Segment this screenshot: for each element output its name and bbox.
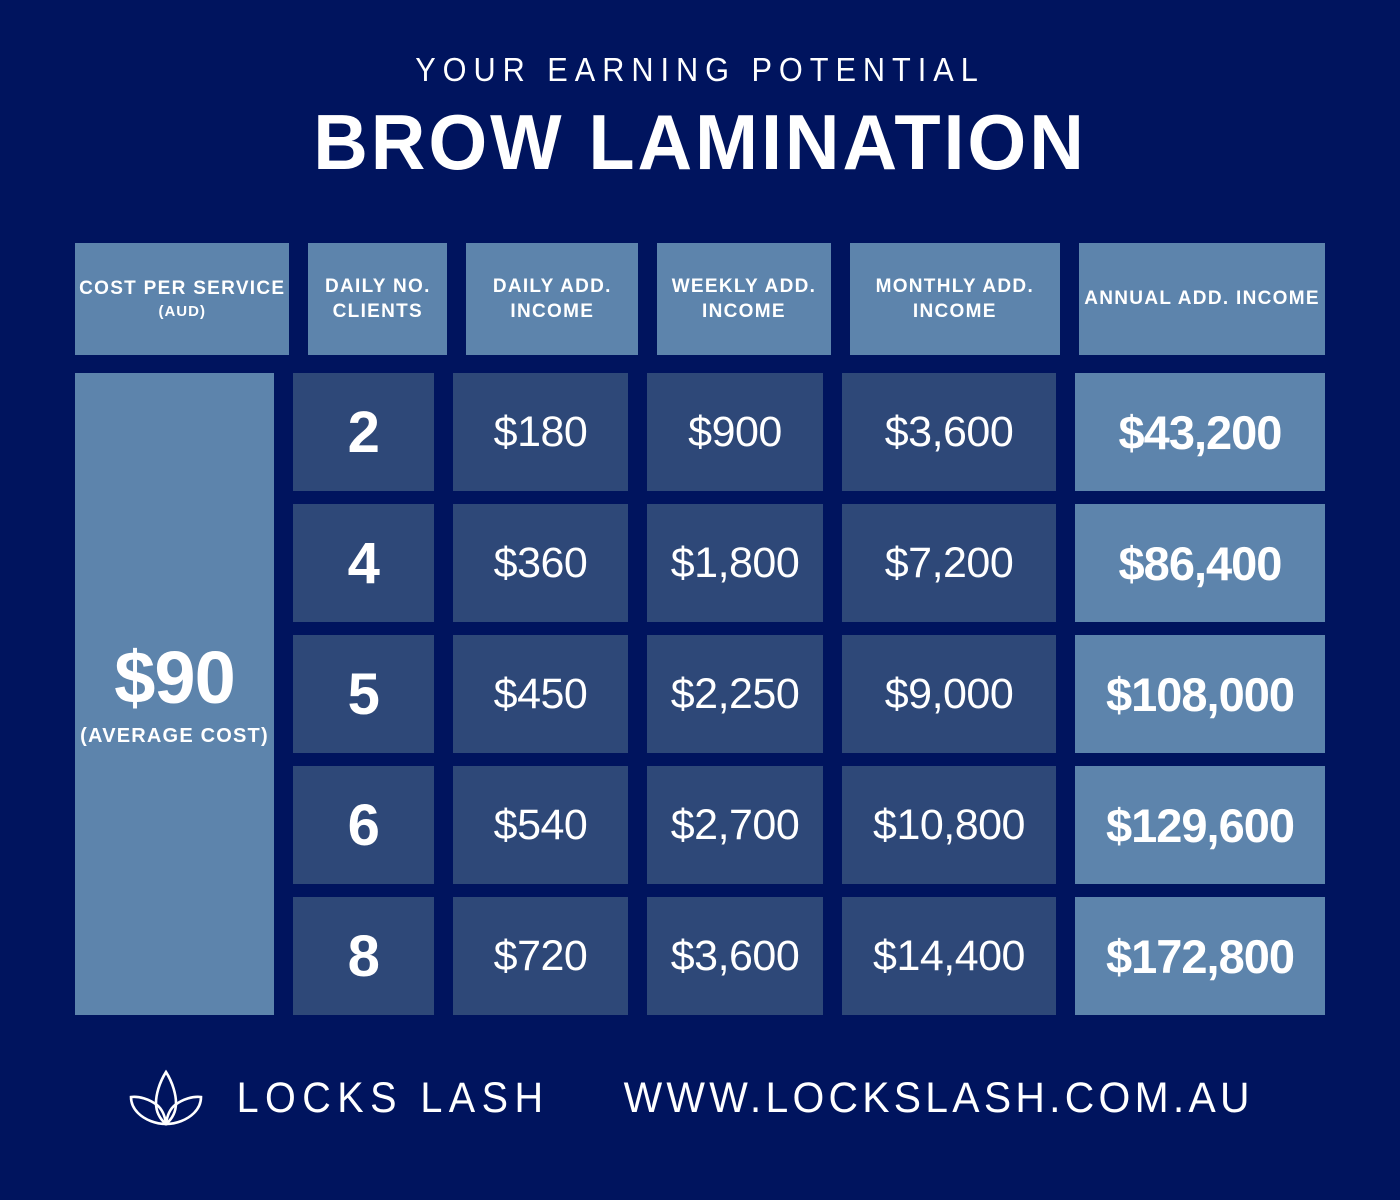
cell-annual-income: $108,000 (1075, 635, 1325, 753)
cost-per-service-note: (AVERAGE COST) (80, 725, 269, 748)
cell-daily-income: $180 (453, 373, 628, 491)
eyebrow-text: YOUR EARNING POTENTIAL (49, 52, 1351, 88)
brand-name: LOCKS LASH (237, 1074, 550, 1123)
cell-daily-income: $540 (453, 766, 628, 884)
cell-annual-income: $43,200 (1075, 373, 1325, 491)
cell-annual-income: $172,800 (1075, 897, 1325, 1015)
cell-daily-clients: 2 (293, 373, 434, 491)
column-header-daily-no-clients: DAILY NO. CLIENTS (308, 243, 447, 355)
column-header-sublabel: (AUD) (79, 302, 285, 322)
cell-daily-clients: 4 (293, 504, 434, 622)
cell-daily-clients: 8 (293, 897, 434, 1015)
column-header-cost-per-service: COST PER SERVICE (AUD) (75, 243, 289, 355)
table-body: $90 (AVERAGE COST) 2 $180 $900 $3,600 $4… (75, 373, 1325, 1015)
cell-annual-income: $129,600 (1075, 766, 1325, 884)
column-header-label: COST PER SERVICE (79, 278, 285, 299)
cell-weekly-income: $900 (647, 373, 823, 491)
cell-monthly-income: $3,600 (842, 373, 1056, 491)
cell-monthly-income: $9,000 (842, 635, 1056, 753)
cell-daily-clients: 5 (293, 635, 434, 753)
cell-daily-income: $720 (453, 897, 628, 1015)
footer: LOCKS LASH WWW.LOCKSLASH.COM.AU (0, 1068, 1400, 1128)
cost-per-service-cell: $90 (AVERAGE COST) (75, 373, 274, 1015)
infographic-page: YOUR EARNING POTENTIAL BROW LAMINATION C… (0, 0, 1400, 1200)
cell-annual-income: $86,400 (1075, 504, 1325, 622)
table-row: 6 $540 $2,700 $10,800 $129,600 (293, 766, 1325, 884)
cell-daily-income: $450 (453, 635, 628, 753)
column-header-monthly-add-income: MONTHLY ADD. INCOME (850, 243, 1061, 355)
cell-weekly-income: $2,700 (647, 766, 823, 884)
earnings-table: COST PER SERVICE (AUD) DAILY NO. CLIENTS… (75, 243, 1325, 1015)
cell-weekly-income: $1,800 (647, 504, 823, 622)
column-header-daily-add-income: DAILY ADD. INCOME (466, 243, 638, 355)
cell-daily-income: $360 (453, 504, 628, 622)
cell-weekly-income: $3,600 (647, 897, 823, 1015)
brand-lockup: LOCKS LASH (129, 1068, 563, 1128)
table-row: 4 $360 $1,800 $7,200 $86,400 (293, 504, 1325, 622)
column-header-weekly-add-income: WEEKLY ADD. INCOME (657, 243, 830, 355)
lotus-icon (129, 1068, 203, 1128)
table-row: 5 $450 $2,250 $9,000 $108,000 (293, 635, 1325, 753)
cell-daily-clients: 6 (293, 766, 434, 884)
table-row: 2 $180 $900 $3,600 $43,200 (293, 373, 1325, 491)
table-header-row: COST PER SERVICE (AUD) DAILY NO. CLIENTS… (75, 243, 1325, 355)
page-title: BROW LAMINATION (21, 102, 1379, 184)
cell-monthly-income: $10,800 (842, 766, 1056, 884)
cell-monthly-income: $7,200 (842, 504, 1056, 622)
cost-per-service-amount: $90 (114, 641, 234, 715)
column-header-annual-add-income: ANNUAL ADD. INCOME (1079, 243, 1325, 355)
table-rows: 2 $180 $900 $3,600 $43,200 4 $360 $1,800… (293, 373, 1325, 1015)
cell-monthly-income: $14,400 (842, 897, 1056, 1015)
table-row: 8 $720 $3,600 $14,400 $172,800 (293, 897, 1325, 1015)
website-url: WWW.LOCKSLASH.COM.AU (624, 1074, 1254, 1123)
header-block: YOUR EARNING POTENTIAL BROW LAMINATION (0, 52, 1400, 184)
cell-weekly-income: $2,250 (647, 635, 823, 753)
